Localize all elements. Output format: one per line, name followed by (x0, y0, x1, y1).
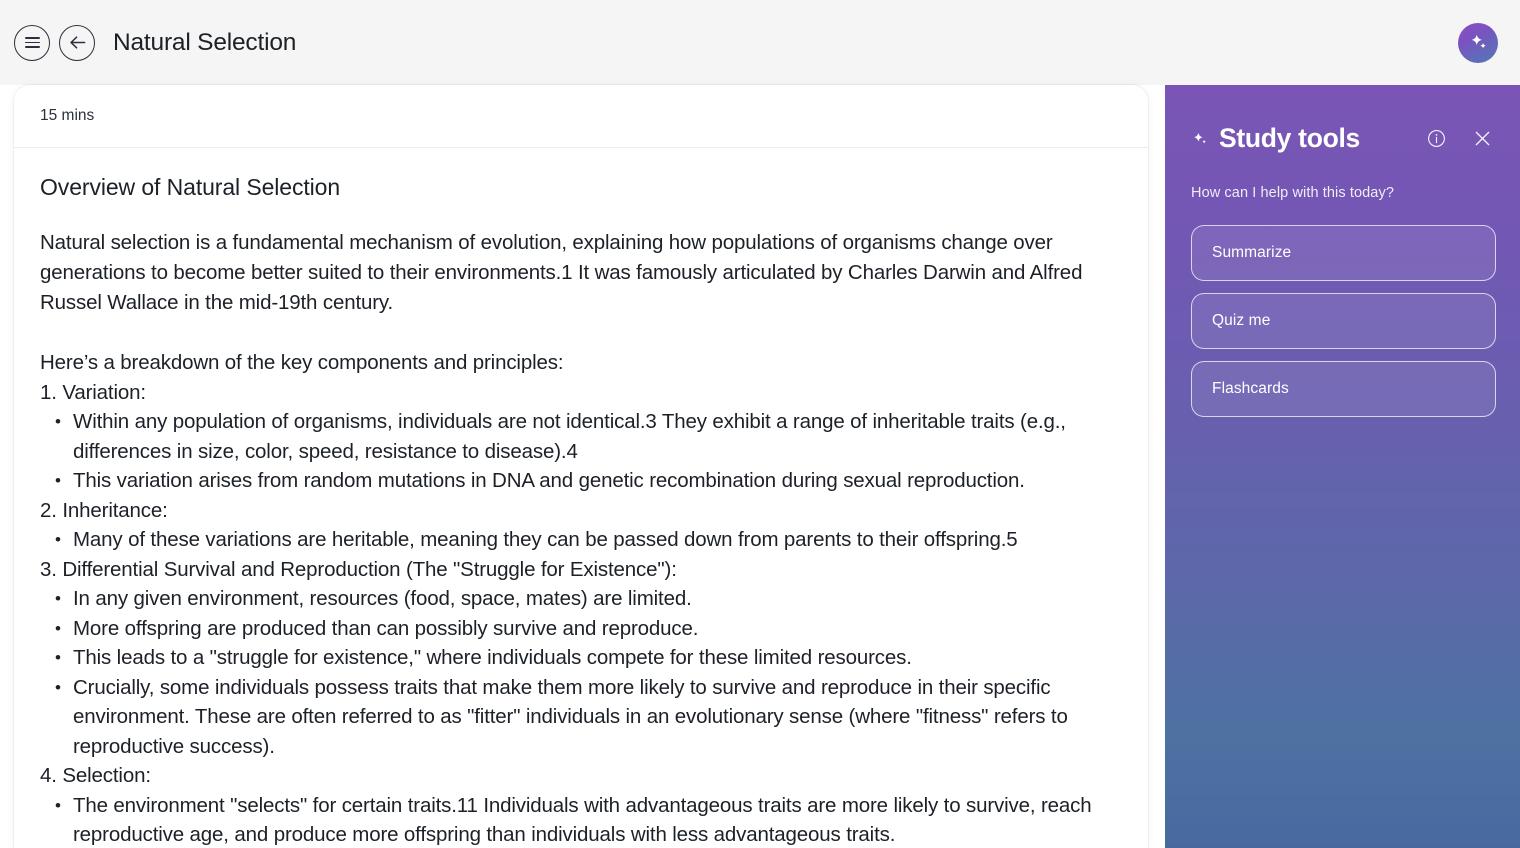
section-bullets: Within any population of organisms, indi… (40, 407, 1122, 496)
list-item: This variation arises from random mutati… (40, 466, 1122, 496)
back-arrow-icon (69, 35, 86, 50)
breakdown-intro: Here’s a breakdown of the key components… (40, 348, 1122, 378)
summarize-button[interactable]: Summarize (1191, 225, 1496, 281)
study-tools-title-group: Study tools (1191, 123, 1360, 154)
list-item: More offspring are produced than can pos… (40, 614, 1122, 644)
study-tools-subtitle: How can I help with this today? (1191, 183, 1496, 203)
section-bullets: Many of these variations are heritable, … (40, 525, 1122, 555)
section-heading: 4. Selection: (40, 761, 1122, 791)
info-button[interactable] (1424, 127, 1448, 151)
section-bullets: In any given environment, resources (foo… (40, 584, 1122, 761)
document-heading: Overview of Natural Selection (40, 174, 1122, 201)
close-x-icon (1474, 130, 1491, 147)
list-item: The environment "selects" for certain tr… (40, 791, 1122, 848)
hamburger-menu-button[interactable] (14, 25, 50, 61)
lead-paragraph: Natural selection is a fundamental mecha… (40, 228, 1122, 318)
reading-duration: 15 mins (40, 107, 94, 125)
study-tools-header: Study tools (1191, 123, 1496, 154)
section-heading: 3. Differential Survival and Reproductio… (40, 555, 1122, 585)
quiz-me-button[interactable]: Quiz me (1191, 293, 1496, 349)
top-header-bar: Natural Selection (0, 0, 1520, 85)
sparkle-ai-icon (1468, 32, 1489, 53)
list-item: This leads to a "struggle for existence,… (40, 643, 1122, 673)
hamburger-menu-icon (25, 37, 40, 48)
flashcards-button[interactable]: Flashcards (1191, 361, 1496, 417)
study-tools-actions: Summarize Quiz me Flashcards (1191, 225, 1496, 417)
close-panel-button[interactable] (1470, 127, 1494, 151)
section-heading: 1. Variation: (40, 378, 1122, 408)
ai-assistant-button[interactable] (1458, 23, 1498, 63)
study-tools-title: Study tools (1219, 123, 1360, 154)
document-meta-bar: 15 mins (14, 85, 1148, 148)
list-item: In any given environment, resources (foo… (40, 584, 1122, 614)
sparkle-icon (1191, 130, 1210, 149)
info-circle-icon (1427, 129, 1446, 148)
page-title: Natural Selection (113, 29, 296, 57)
document-card: 15 mins Overview of Natural Selection Na… (14, 85, 1148, 848)
list-item: Within any population of organisms, indi… (40, 407, 1122, 466)
section-heading: 2. Inheritance: (40, 496, 1122, 526)
study-tools-panel: Study tools How can I help with this tod… (1165, 85, 1520, 848)
list-item: Crucially, some individuals possess trai… (40, 673, 1122, 762)
back-button[interactable] (59, 25, 95, 61)
section-bullets: The environment "selects" for certain tr… (40, 791, 1122, 848)
document-body: Overview of Natural Selection Natural se… (14, 148, 1148, 848)
list-item: Many of these variations are heritable, … (40, 525, 1122, 555)
app-root: Natural Selection 15 mins Overview of Na… (0, 0, 1520, 848)
